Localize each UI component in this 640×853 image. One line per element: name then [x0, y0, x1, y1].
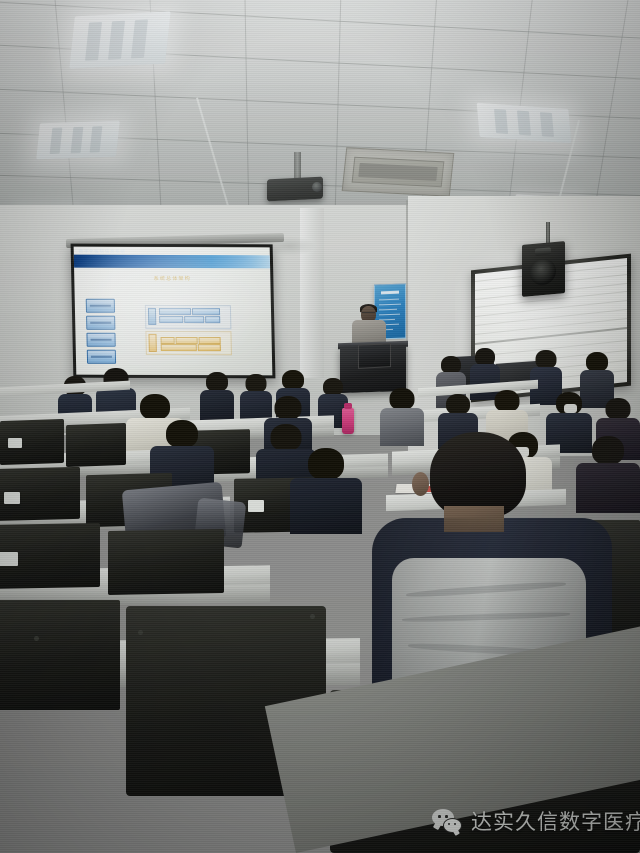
- slide-diagram-blue-box-2: [192, 308, 220, 315]
- wechat-logo-icon: [432, 809, 462, 833]
- seat-pivot-knob: [34, 636, 39, 641]
- auditorium-seat: [108, 529, 224, 595]
- seat-pivot-knob: [310, 614, 315, 619]
- slide-nav-item-1: [86, 299, 115, 313]
- conference-room-photo: 数字化医院信息系统 系统总体架构: [0, 0, 640, 853]
- loudspeaker: [522, 241, 565, 297]
- wechat-watermark: 达实久信数字医疗: [432, 806, 640, 836]
- projection-screen[interactable]: 数字化医院信息系统 系统总体架构: [71, 244, 276, 379]
- slide-nav-item-2: [86, 316, 115, 330]
- speaker-cone: [530, 258, 556, 286]
- pink-water-bottle: [342, 408, 354, 434]
- slide-diagram-amber-box-2: [176, 337, 198, 344]
- attendee: [290, 448, 362, 526]
- seat-number-tag: [248, 500, 264, 512]
- seat-number-tag: [8, 438, 22, 448]
- slide-nav-item-3: [86, 333, 115, 347]
- slide-title: 系统总体架构: [154, 275, 191, 282]
- slide-diagram-amber-box-1: [161, 337, 175, 344]
- laptop: [358, 343, 391, 369]
- presenter-glasses: [362, 312, 375, 316]
- watermark-text: 达实久信数字医疗: [471, 806, 640, 836]
- bottle-cap: [344, 403, 352, 409]
- auditorium-seat: [66, 423, 126, 467]
- slide-diagram-blue-box-3: [159, 316, 183, 323]
- slide-diagram-blue-side-bar: [148, 308, 156, 325]
- screen-surface: 数字化医院信息系统 系统总体架构: [74, 247, 273, 376]
- slide-diagram-amber-box-4: [161, 344, 197, 351]
- slide-diagram-amber-box-5: [198, 344, 221, 351]
- foreground-ear: [412, 472, 429, 496]
- seat-number-tag: [4, 492, 20, 504]
- seat-number-tag: [0, 552, 18, 566]
- slide-header-title: 数字化医院信息系统: [79, 249, 126, 255]
- slide-diagram-amber-side-bar: [148, 334, 156, 352]
- attendee: [200, 372, 234, 424]
- speaker-tweeter: [535, 247, 551, 255]
- face-mask: [564, 404, 577, 413]
- slide-nav-item-4: [87, 350, 116, 364]
- auditorium-seat-foreground: [0, 600, 120, 710]
- slide-header-banner: [74, 255, 270, 269]
- wall-column: [300, 208, 324, 378]
- seat-pivot-knob: [138, 630, 143, 635]
- slide-diagram-blue-box-4: [184, 316, 204, 323]
- slide-diagram-blue-box-1: [159, 308, 191, 315]
- slide-diagram-blue-box-5: [205, 316, 220, 323]
